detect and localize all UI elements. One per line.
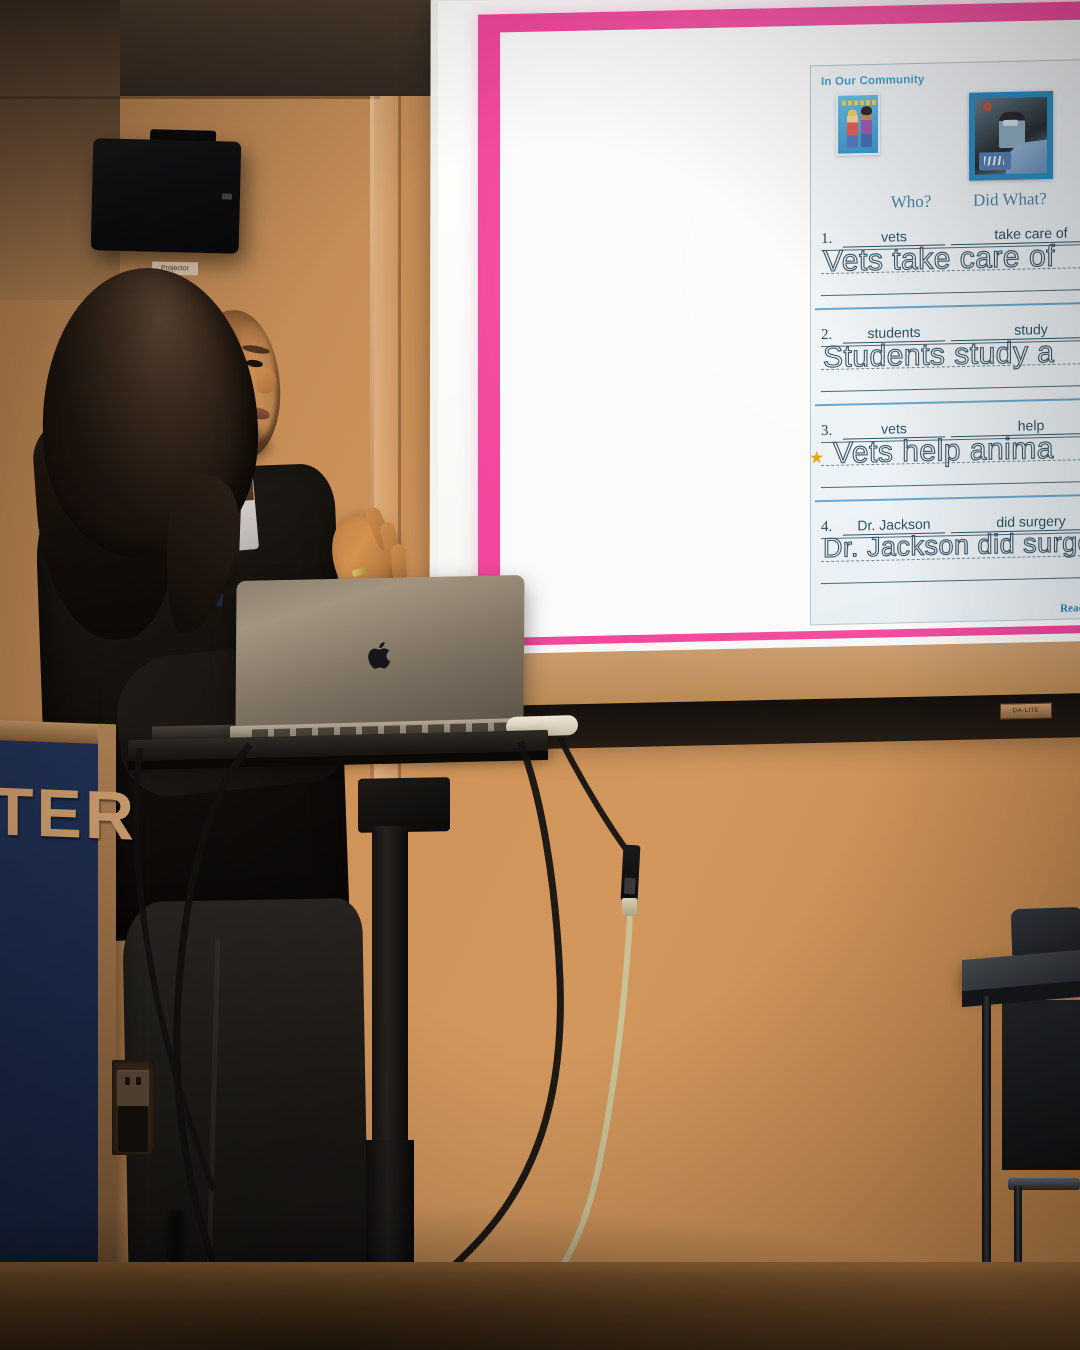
desk-stand-head <box>358 777 450 833</box>
rj45-connector <box>622 898 637 916</box>
floor-shadow <box>0 1200 1080 1350</box>
podium-lettering: TER <box>0 772 137 856</box>
wall-speaker <box>91 138 242 254</box>
traced-sentence: Vets take care of <box>823 240 1055 279</box>
worksheet-column-headers: Who? Did What? <box>811 188 1080 215</box>
table-row: 4. Dr. Jackson did surgery Dr. Jackson d… <box>811 500 1080 603</box>
column-header-did-what: Did What? <box>965 188 1080 211</box>
traced-sentence: Vets help anima <box>833 432 1054 471</box>
screen-brand-label: DA-LITE <box>1000 702 1052 719</box>
wall-outlet[interactable] <box>117 1070 149 1106</box>
classroom-presentation-photo: DA-LITE In Our Community Who? Did What? <box>0 0 1080 1350</box>
column-header-who: Who? <box>857 191 965 213</box>
chair-seat <box>1002 1000 1080 1170</box>
apple-logo-icon <box>365 638 395 673</box>
traced-sentence: Students study a <box>823 336 1054 375</box>
traced-sentence: Dr. Jackson did surgery <box>823 526 1080 564</box>
slide-title: In Our Community <box>821 70 1080 89</box>
table-row: 1. vets take care of Vets take care of <box>811 212 1080 315</box>
table-row: 2. students study Students study a <box>811 308 1080 411</box>
table-row: 3. vets help ★ Vets help anima <box>811 404 1080 507</box>
wall-panel-line <box>0 96 380 99</box>
book-cover-icon <box>836 93 880 156</box>
readworks-logo: ReadWo <box>1060 602 1080 615</box>
worksheet-slide: In Our Community Who? Did What? 1. vets <box>810 59 1080 626</box>
worksheet-rows: 1. vets take care of Vets take care of 2… <box>811 212 1080 603</box>
usb-ethernet-adapter <box>621 845 641 902</box>
surgery-photo-icon <box>969 91 1053 181</box>
outlet-plug <box>118 1106 148 1152</box>
